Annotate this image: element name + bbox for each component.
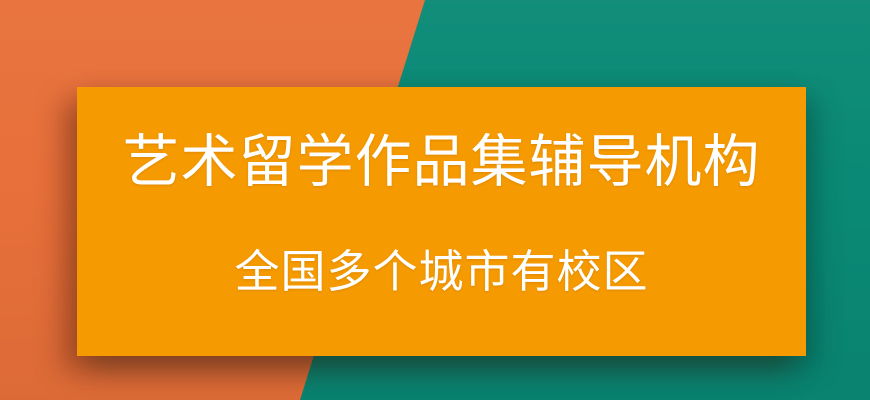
- headline-card: 艺术留学作品集辅导机构 全国多个城市有校区: [77, 87, 806, 356]
- promo-banner: 艺术留学作品集辅导机构 全国多个城市有校区: [0, 0, 870, 400]
- banner-subheadline: 全国多个城市有校区: [234, 249, 648, 294]
- banner-headline: 艺术留学作品集辅导机构: [123, 134, 761, 191]
